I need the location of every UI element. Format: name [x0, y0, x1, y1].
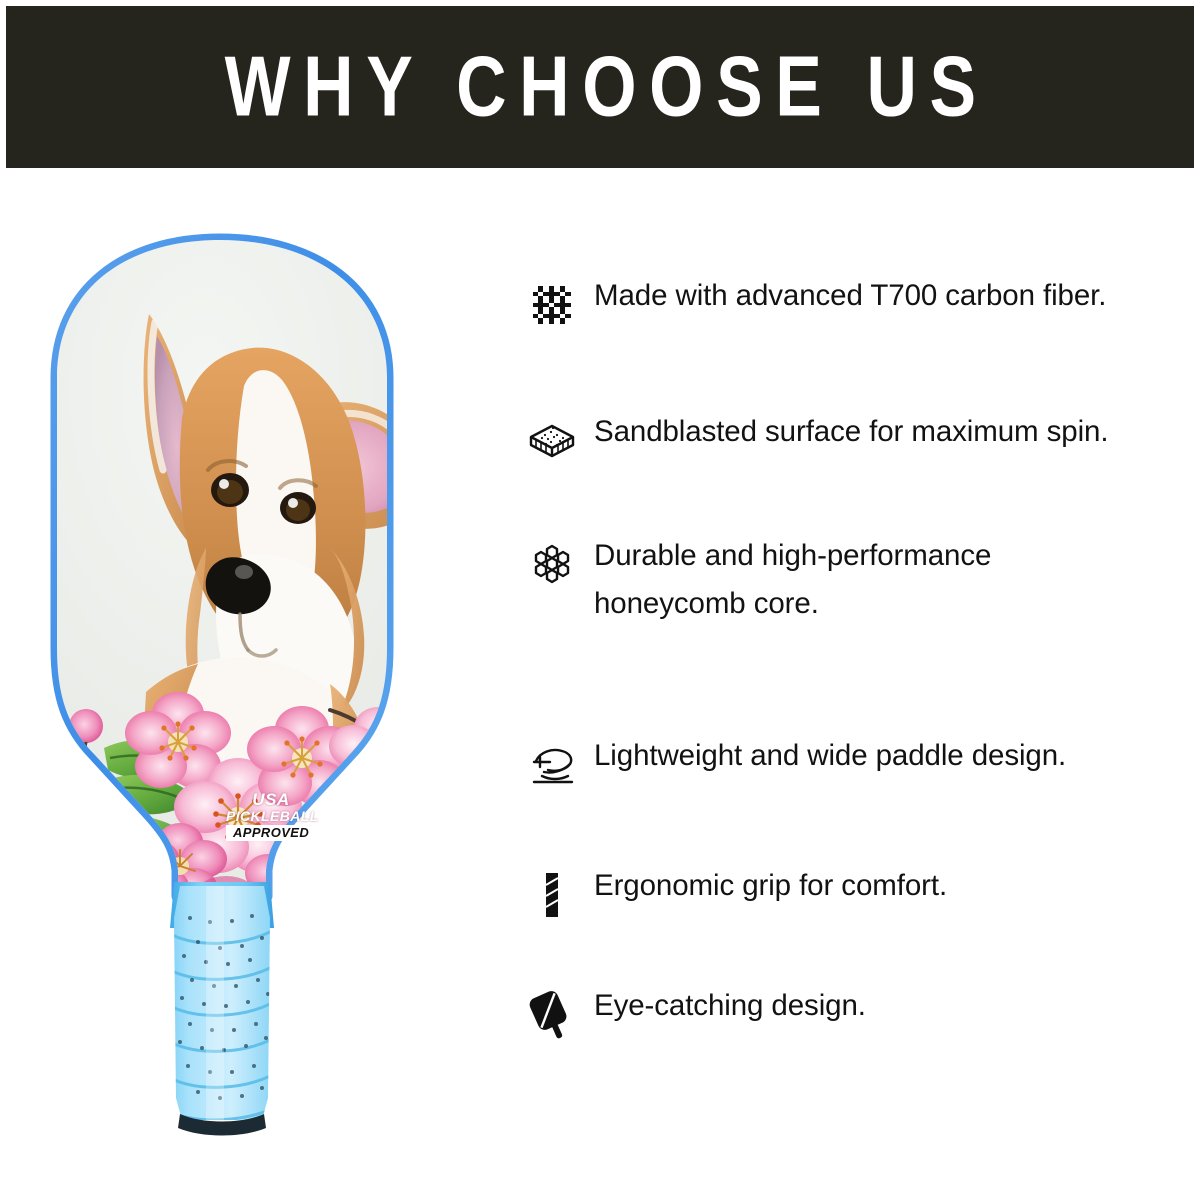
honeycomb-core-icon — [520, 538, 584, 592]
feature-item-carbon-fiber: Made with advanced T700 carbon fiber. — [520, 278, 1200, 332]
feather-lightweight-icon — [520, 738, 584, 792]
feature-item-honeycomb: Durable and high-performance honeycomb c… — [520, 538, 1200, 628]
feature-text: Lightweight and wide paddle design. — [584, 732, 1066, 780]
feature-item-design: Eye-catching design. — [520, 988, 1200, 1042]
header-banner: WHY CHOOSE US — [6, 6, 1194, 168]
feature-item-sandblasted: Sandblasted surface for maximum spin. — [520, 414, 1200, 468]
page-title: WHY CHOOSE US — [212, 45, 989, 130]
feature-item-lightweight: Lightweight and wide paddle design. — [520, 738, 1200, 792]
feature-text: Durable and high-performance honeycomb c… — [584, 532, 991, 628]
feature-list: Made with advanced T700 carbon fiber. — [520, 168, 1200, 1200]
feature-item-grip: Ergonomic grip for comfort. — [520, 868, 1200, 922]
product-image-paddle: USA PICKLEBALL APPROVED — [30, 218, 470, 1178]
sandblasted-surface-icon — [520, 414, 584, 468]
carbon-fiber-weave-icon — [520, 278, 584, 332]
grip-handle-icon — [520, 868, 584, 922]
feature-text: Sandblasted surface for maximum spin. — [584, 408, 1108, 456]
feature-text: Ergonomic grip for comfort. — [584, 862, 947, 910]
feature-text: Made with advanced T700 carbon fiber. — [584, 272, 1106, 320]
pickleball-paddle-icon — [520, 988, 584, 1042]
main-content: USA PICKLEBALL APPROVED — [0, 168, 1200, 1200]
feature-text: Eye-catching design. — [584, 982, 866, 1030]
